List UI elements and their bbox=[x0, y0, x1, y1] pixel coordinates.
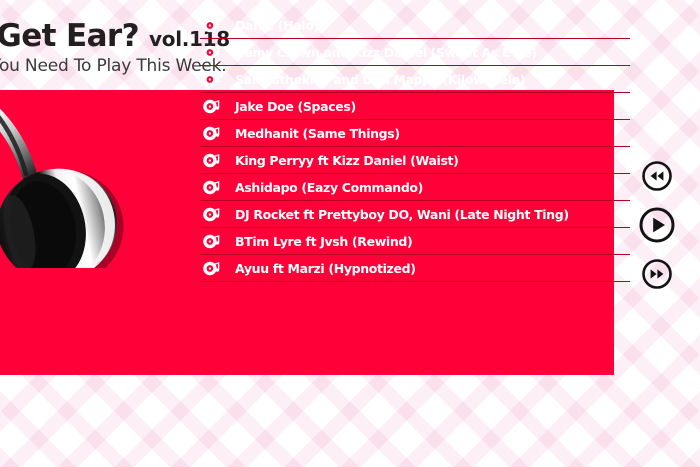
track-list: Danie (Halo) Remy Crown and Kizz Daniel … bbox=[200, 12, 630, 282]
track-row[interactable]: King Perryy ft Kizz Daniel (Waist) bbox=[200, 147, 630, 174]
track-row[interactable]: Danie (Halo) bbox=[200, 12, 630, 39]
track-row[interactable]: Ayuu ft Marzi (Hypnotized) bbox=[200, 255, 630, 282]
track-row[interactable]: Samvsthekids and Don Mappy (Kilowasele) bbox=[200, 66, 630, 93]
track-label: Medhanit (Same Things) bbox=[235, 126, 400, 141]
page-title: ho Get Ear? vol.118 bbox=[0, 18, 230, 54]
rewind-button[interactable] bbox=[641, 160, 673, 192]
track-label: Ashidapo (Eazy Commando) bbox=[235, 180, 423, 195]
music-disc-icon bbox=[202, 16, 221, 35]
track-label: Remy Crown and Kizz Daniel (Sweet As E B… bbox=[235, 45, 537, 60]
track-label: King Perryy ft Kizz Daniel (Waist) bbox=[235, 153, 459, 168]
rewind-icon bbox=[651, 171, 664, 180]
music-disc-icon bbox=[202, 205, 221, 224]
music-disc-icon bbox=[202, 70, 221, 89]
play-button[interactable] bbox=[638, 206, 676, 244]
music-disc-icon bbox=[202, 259, 221, 278]
track-label: Ayuu ft Marzi (Hypnotized) bbox=[235, 261, 416, 276]
music-disc-icon bbox=[202, 178, 221, 197]
track-label: Jake Doe (Spaces) bbox=[235, 99, 356, 114]
music-disc-icon bbox=[202, 97, 221, 116]
track-row[interactable]: DJ Rocket ft Prettyboy DO, Wani (Late Ni… bbox=[200, 201, 630, 228]
music-disc-icon bbox=[202, 124, 221, 143]
track-label: Samvsthekids and Don Mappy (Kilowasele) bbox=[235, 72, 525, 87]
music-disc-icon bbox=[202, 43, 221, 62]
playback-controls bbox=[634, 160, 680, 290]
track-label: BTim Lyre ft Jvsh (Rewind) bbox=[235, 234, 412, 249]
fast-forward-icon bbox=[651, 269, 664, 278]
music-disc-icon bbox=[202, 232, 221, 251]
track-row[interactable]: BTim Lyre ft Jvsh (Rewind) bbox=[200, 228, 630, 255]
track-row[interactable]: Ashidapo (Eazy Commando) bbox=[200, 174, 630, 201]
forward-button[interactable] bbox=[641, 258, 673, 290]
track-row[interactable]: Remy Crown and Kizz Daniel (Sweet As E B… bbox=[200, 39, 630, 66]
track-label: DJ Rocket ft Prettyboy DO, Wani (Late Ni… bbox=[235, 207, 569, 222]
play-icon bbox=[653, 218, 665, 233]
track-row[interactable]: Jake Doe (Spaces) bbox=[200, 93, 630, 120]
page-title-text: ho Get Ear? bbox=[0, 18, 139, 54]
page-subtitle: ngs You Need To Play This Week. bbox=[0, 56, 226, 76]
track-row[interactable]: Medhanit (Same Things) bbox=[200, 120, 630, 147]
track-label: Danie (Halo) bbox=[235, 18, 319, 33]
music-disc-icon bbox=[202, 151, 221, 170]
